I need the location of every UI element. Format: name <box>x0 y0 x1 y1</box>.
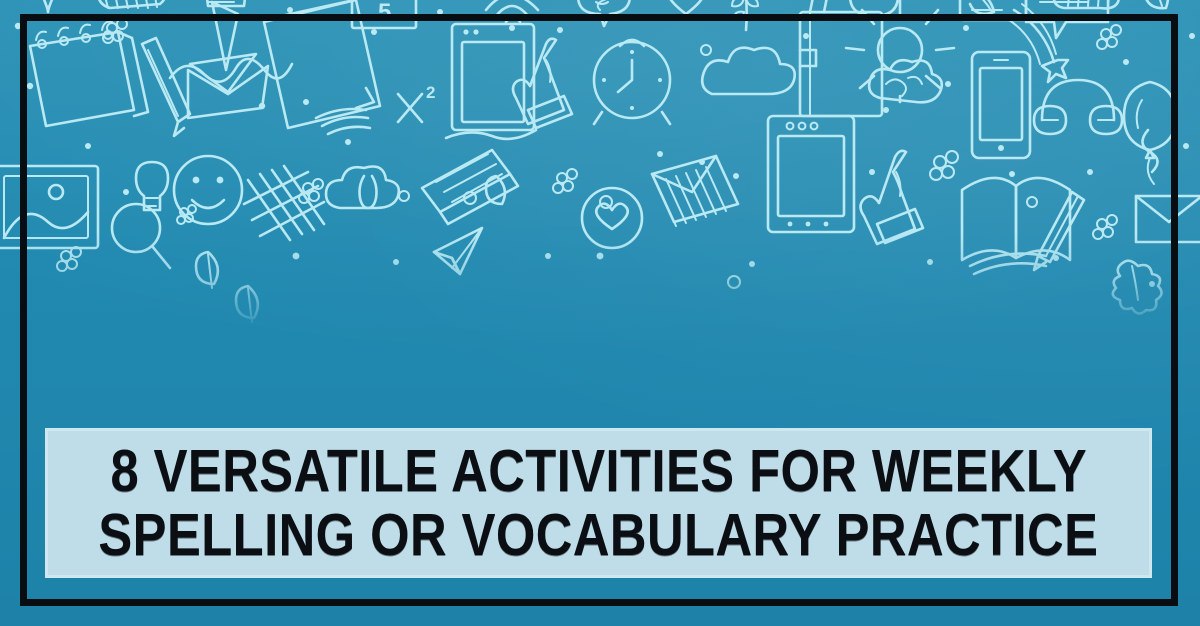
crosshatch-icon <box>244 166 324 240</box>
doodle-pattern: 5 <box>0 0 1200 346</box>
leaf-icon-3 <box>486 176 505 204</box>
speech-bubble-icon-right <box>850 0 898 16</box>
heart-icon-top <box>668 0 704 14</box>
spiral-notebook-icon <box>30 22 148 126</box>
envelope-icon-right <box>1136 196 1200 242</box>
leaf-icon-far-right <box>1144 0 1168 8</box>
lightbulb-icon <box>136 162 168 210</box>
notebook-icon-top <box>960 0 1026 20</box>
sun-icon <box>846 0 954 102</box>
svg-text:5: 5 <box>378 0 391 26</box>
speech-bubble-head-icon <box>578 0 630 26</box>
hash-icon <box>800 0 840 12</box>
flower-icon-4 <box>57 247 81 271</box>
squiggle-arrow-icon <box>170 6 292 82</box>
pencil-icon-1 <box>142 38 190 136</box>
poster-canvas: 5 <box>0 0 1200 626</box>
headphones-icon <box>1034 80 1122 134</box>
picture-frame-icon <box>0 166 98 248</box>
title-line-2: SPELLING OR VOCABULARY PRACTICE <box>98 505 1098 565</box>
leaf-sprig-icon <box>970 0 994 14</box>
flower-icon-3 <box>1097 25 1121 49</box>
envelope-open-icon <box>188 54 268 118</box>
smiley-face-icon <box>174 156 242 224</box>
open-book-icon <box>962 178 1070 274</box>
flower-icon-8 <box>930 151 958 180</box>
paper-plane-icon-top <box>212 2 238 70</box>
cloud-icon-1 <box>702 48 795 94</box>
pointing-hand-icon-2 <box>861 151 924 244</box>
heart-circle-icon <box>582 188 642 248</box>
crown-icon <box>204 0 248 6</box>
paperclip-icon <box>98 0 166 8</box>
cloud-scribble-icon-top <box>1054 0 1119 8</box>
alarm-clock-icon <box>594 40 670 124</box>
flower-icon-1 <box>103 19 127 43</box>
book-closed-icon <box>422 150 518 224</box>
leaf-icon-1 <box>196 252 218 288</box>
shooting-star-icon <box>1006 4 1068 82</box>
folder-icon <box>264 0 380 128</box>
smartphone-icon <box>972 52 1030 158</box>
squiggle-icon-right <box>1142 130 1157 172</box>
scribble-underline-icon <box>316 109 370 134</box>
tablet-icon-2 <box>768 116 854 232</box>
oak-leaf-icon <box>1113 261 1162 314</box>
title-line-1: 8 VERSATILE ACTIVITIES FOR WEEKLY <box>110 441 1087 501</box>
balloon-icon <box>1124 82 1176 184</box>
dot-cluster <box>15 0 1195 288</box>
calendar-icon: 5 <box>352 0 416 28</box>
brain-cloud-icon <box>869 60 942 102</box>
flower-icon-9 <box>1093 215 1117 239</box>
tablet-icon-1 <box>446 24 536 139</box>
flower-icon-6 <box>299 179 323 203</box>
svg-text:2: 2 <box>426 83 435 102</box>
pencil-icon-2 <box>1034 192 1084 270</box>
leaf-branch-icon-top <box>732 0 758 30</box>
x-squared-icon: 2 <box>398 83 435 122</box>
title-panel: 8 VERSATILE ACTIVITIES FOR WEEKLY SPELLI… <box>45 428 1152 578</box>
notebook-diary-icon <box>800 12 882 116</box>
striped-envelope-icon <box>652 156 738 226</box>
cloud-tree-icon <box>326 167 399 209</box>
wifi-icon <box>486 0 538 31</box>
flower-icon-7 <box>553 169 577 193</box>
speech-bubble-lines-icon <box>1026 0 1108 38</box>
paper-airplane-icon <box>434 228 482 274</box>
location-pin-icon <box>40 0 56 12</box>
magnifying-glass-icon <box>112 204 170 268</box>
flower-icon-5 <box>177 205 196 224</box>
pointing-hand-icon-1 <box>513 39 572 128</box>
leaf-icon-2 <box>236 286 258 322</box>
